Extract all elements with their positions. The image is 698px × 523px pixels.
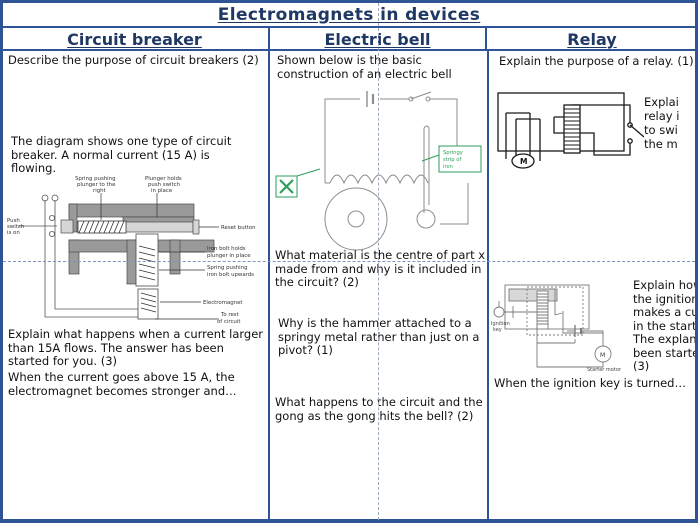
header-label: Circuit breaker bbox=[67, 30, 202, 49]
column-circuit-breaker: Describe the purpose of circuit breakers… bbox=[3, 51, 268, 520]
svg-text:Starter motor: Starter motor bbox=[587, 367, 622, 373]
worksheet-page: Electromagnets in devices Circuit breake… bbox=[0, 0, 698, 523]
svg-text:M: M bbox=[520, 157, 527, 166]
vertical-guide-line bbox=[378, 3, 379, 520]
relay-answer-start: When the ignition key is turned… bbox=[494, 377, 694, 391]
column-header-relay: Relay bbox=[489, 28, 695, 51]
cb-question-2: Explain what happens when a current larg… bbox=[8, 328, 264, 369]
bell-question-3: Why is the hammer attached to a springy … bbox=[278, 317, 483, 358]
relay-q2-line-1: Explai bbox=[644, 95, 695, 109]
cb-intro-text: The diagram shows one type of circuit br… bbox=[11, 135, 256, 176]
svg-text:Spring pushing: Spring pushing bbox=[207, 265, 248, 271]
svg-text:key: key bbox=[493, 327, 502, 333]
column-relay: Explain the purpose of a relay. (1) bbox=[489, 51, 695, 520]
horizontal-guide-line bbox=[3, 261, 695, 262]
svg-text:M: M bbox=[600, 352, 605, 359]
relay-question-3-clipped: Explain how the ignition makes a cur in … bbox=[633, 279, 695, 379]
relay-q2-line-4: the m bbox=[644, 137, 695, 151]
svg-text:Reset button: Reset button bbox=[221, 225, 256, 231]
cb-question-1: Describe the purpose of circuit breakers… bbox=[8, 54, 263, 68]
relay-question-1: Explain the purpose of a relay. (1) bbox=[499, 55, 694, 69]
relay-diagram: M bbox=[494, 89, 644, 171]
bell-question-4: What happens to the circuit and the gong… bbox=[275, 396, 485, 423]
svg-text:of circuit: of circuit bbox=[217, 319, 240, 325]
relay-q2-line-3: to swi bbox=[644, 123, 695, 137]
relay-q3-line-1: Explain how bbox=[633, 279, 695, 293]
circuit-breaker-diagram: Spring pushing plunger to the right Plun… bbox=[5, 174, 266, 329]
svg-text:Springy: Springy bbox=[443, 150, 463, 156]
ignition-relay-diagram: M Ignition key Starter motor bbox=[491, 281, 636, 373]
relay-question-2-clipped: Explai relay i to swi the m bbox=[644, 95, 695, 151]
svg-text:To rest: To rest bbox=[220, 312, 239, 318]
svg-text:iron bolt upwards: iron bolt upwards bbox=[207, 272, 254, 278]
svg-text:strip of: strip of bbox=[443, 157, 461, 163]
header-label: Relay bbox=[567, 30, 616, 49]
svg-text:is on: is on bbox=[7, 230, 20, 236]
column-header-circuit-breaker: Circuit breaker bbox=[3, 28, 266, 51]
relay-q3-line-2: the ignition bbox=[633, 293, 695, 307]
relay-q3-line-3: makes a cur bbox=[633, 306, 695, 320]
svg-text:right: right bbox=[93, 188, 106, 194]
svg-text:iron: iron bbox=[443, 164, 453, 170]
page-title: Electromagnets in devices bbox=[218, 5, 481, 25]
relay-q3-line-6: been starte bbox=[633, 347, 695, 361]
svg-text:Iron bolt holds: Iron bolt holds bbox=[207, 246, 246, 252]
relay-q2-line-2: relay i bbox=[644, 109, 695, 123]
bell-question-1: Shown below is the basic construction of… bbox=[277, 54, 477, 81]
relay-q3-line-5: The explana bbox=[633, 333, 695, 347]
svg-text:plunger in place: plunger in place bbox=[207, 253, 251, 259]
svg-text:in place: in place bbox=[151, 188, 173, 194]
page-title-band: Electromagnets in devices bbox=[3, 3, 695, 28]
column-header-row: Circuit breaker Electric bell Relay bbox=[3, 28, 695, 51]
electric-bell-diagram: Springy strip of iron bbox=[272, 85, 487, 255]
cb-answer-start: When the current goes above 15 A, the el… bbox=[8, 371, 264, 398]
svg-text:Electromagnet: Electromagnet bbox=[203, 300, 243, 306]
bell-question-2: What material is the centre of part x ma… bbox=[275, 249, 487, 290]
relay-q3-line-4: in the start bbox=[633, 320, 695, 334]
relay-q3-line-7: (3) bbox=[633, 360, 695, 374]
